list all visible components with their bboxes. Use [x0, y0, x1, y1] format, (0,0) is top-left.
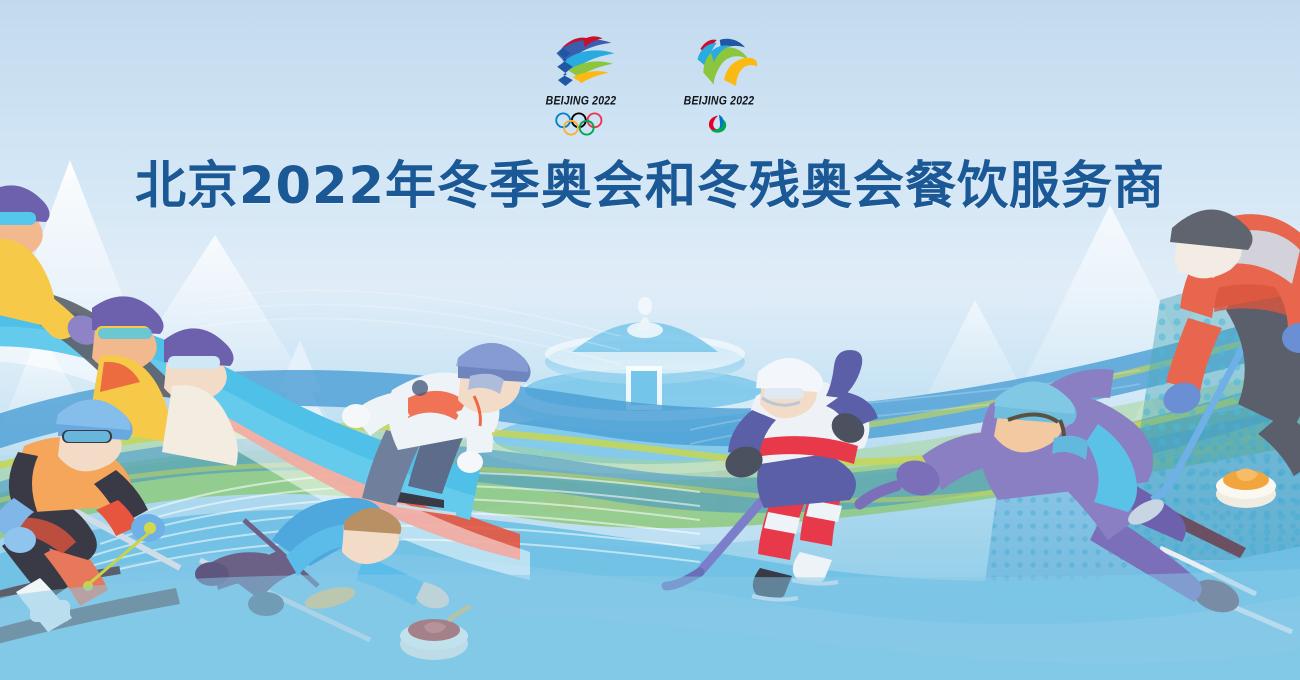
logo-row: BEIJING 2022 BEIJING 20	[0, 34, 1300, 136]
olympic-wordmark: BEIJING 2022	[546, 94, 617, 108]
agitos-icon	[691, 112, 746, 136]
page-title: 北京2022年冬季奥会和冬残奥会餐饮服务商	[0, 144, 1300, 218]
olympic-rings	[553, 112, 608, 136]
beijing-2022-paralympic-logo: BEIJING 2022	[671, 34, 767, 136]
olympic-emblem-winter-dream	[540, 34, 622, 92]
beijing-2022-olympic-logo: BEIJING 2022	[533, 34, 629, 136]
paralympic-wordmark: BEIJING 2022	[684, 94, 755, 108]
olympic-banner: BEIJING 2022 BEIJING 20	[0, 0, 1300, 680]
paralympic-emblem-flying-high	[678, 34, 760, 92]
